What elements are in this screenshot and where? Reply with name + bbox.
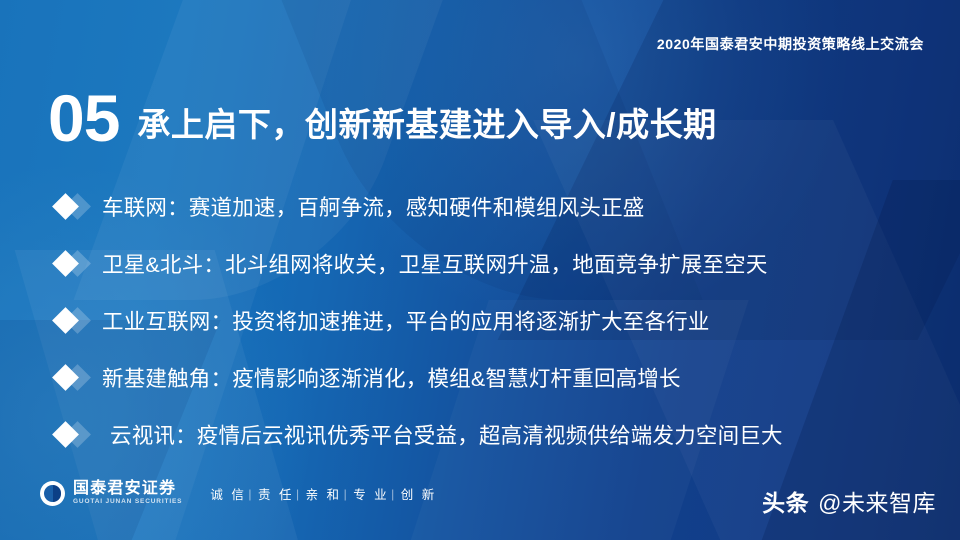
diamond-bullet-icon (52, 420, 98, 450)
list-item-label: 车联网：赛道加速，百舸争流，感知硬件和模组风头正盛 (102, 191, 645, 222)
list-item-label: 云视讯：疫情后云视讯优秀平台受益，超高清视频供给端发力空间巨大 (110, 419, 783, 450)
logo-inner-right-icon (53, 485, 62, 502)
section-title-text: 承上启下，创新新基建进入导入/成长期 (137, 98, 716, 149)
slogan-word: 创 新 (401, 484, 437, 503)
section-title-row: 05 承上启下，创新新基建进入导入/成长期 (48, 88, 717, 149)
diamond-bullet-icon (52, 363, 98, 393)
slide-root: 2020年国泰君安中期投资策略线上交流会 05 承上启下，创新新基建进入导入/成… (0, 0, 960, 540)
company-logo-icon (40, 481, 65, 506)
company-name-en: GUOTAI JUNAN SECURITIES (73, 499, 182, 506)
list-item-label: 工业互联网：投资将加速推进，平台的应用将逐渐扩大至各行业 (102, 305, 710, 336)
slogan-separator: | (391, 487, 397, 501)
slogan-word: 诚 信 (210, 484, 246, 503)
slogan-separator: | (248, 487, 254, 501)
list-item: 车联网：赛道加速，百舸争流，感知硬件和模组风头正盛 (52, 178, 952, 235)
list-item: 卫星&北斗：北斗组网将收关，卫星互联网升温，地面竞争扩展至空天 (52, 235, 952, 292)
slogan-separator: | (296, 487, 302, 501)
bullet-list: 车联网：赛道加速，百舸争流，感知硬件和模组风头正盛 卫星&北斗：北斗组网将收关，… (52, 178, 952, 463)
slogan-word: 亲 和 (306, 484, 342, 503)
list-item-label: 新基建触角：疫情影响逐渐消化，模组&智慧灯杆重回高增长 (102, 362, 681, 393)
slogan-word: 专 业 (353, 484, 389, 503)
section-number: 05 (48, 88, 119, 149)
company-slogan: 诚 信 | 责 任 | 亲 和 | 专 业 | 创 新 (210, 484, 436, 503)
list-item-label: 卫星&北斗：北斗组网将收关，卫星互联网升温，地面竞争扩展至空天 (102, 248, 768, 279)
watermark: 头条 @未来智库 (762, 484, 936, 518)
list-item: 工业互联网：投资将加速推进，平台的应用将逐渐扩大至各行业 (52, 292, 952, 349)
diamond-bullet-icon (52, 192, 98, 222)
event-title: 2020年国泰君安中期投资策略线上交流会 (657, 34, 924, 54)
company-logo-text: 国泰君安证券 GUOTAI JUNAN SECURITIES (73, 481, 182, 506)
slogan-separator: | (344, 487, 350, 501)
logo-inner-left-icon (44, 485, 53, 502)
slogan-word: 责 任 (258, 484, 294, 503)
footer: 国泰君安证券 GUOTAI JUNAN SECURITIES 诚 信 | 责 任… (40, 481, 437, 506)
diamond-bullet-icon (52, 249, 98, 279)
list-item: 新基建触角：疫情影响逐渐消化，模组&智慧灯杆重回高增长 (52, 349, 952, 406)
watermark-brand: 头条 (762, 484, 809, 518)
diamond-bullet-icon (52, 306, 98, 336)
list-item: 云视讯：疫情后云视讯优秀平台受益，超高清视频供给端发力空间巨大 (52, 406, 952, 463)
watermark-handle: @未来智库 (818, 484, 936, 518)
company-name-cn: 国泰君安证券 (73, 481, 182, 498)
